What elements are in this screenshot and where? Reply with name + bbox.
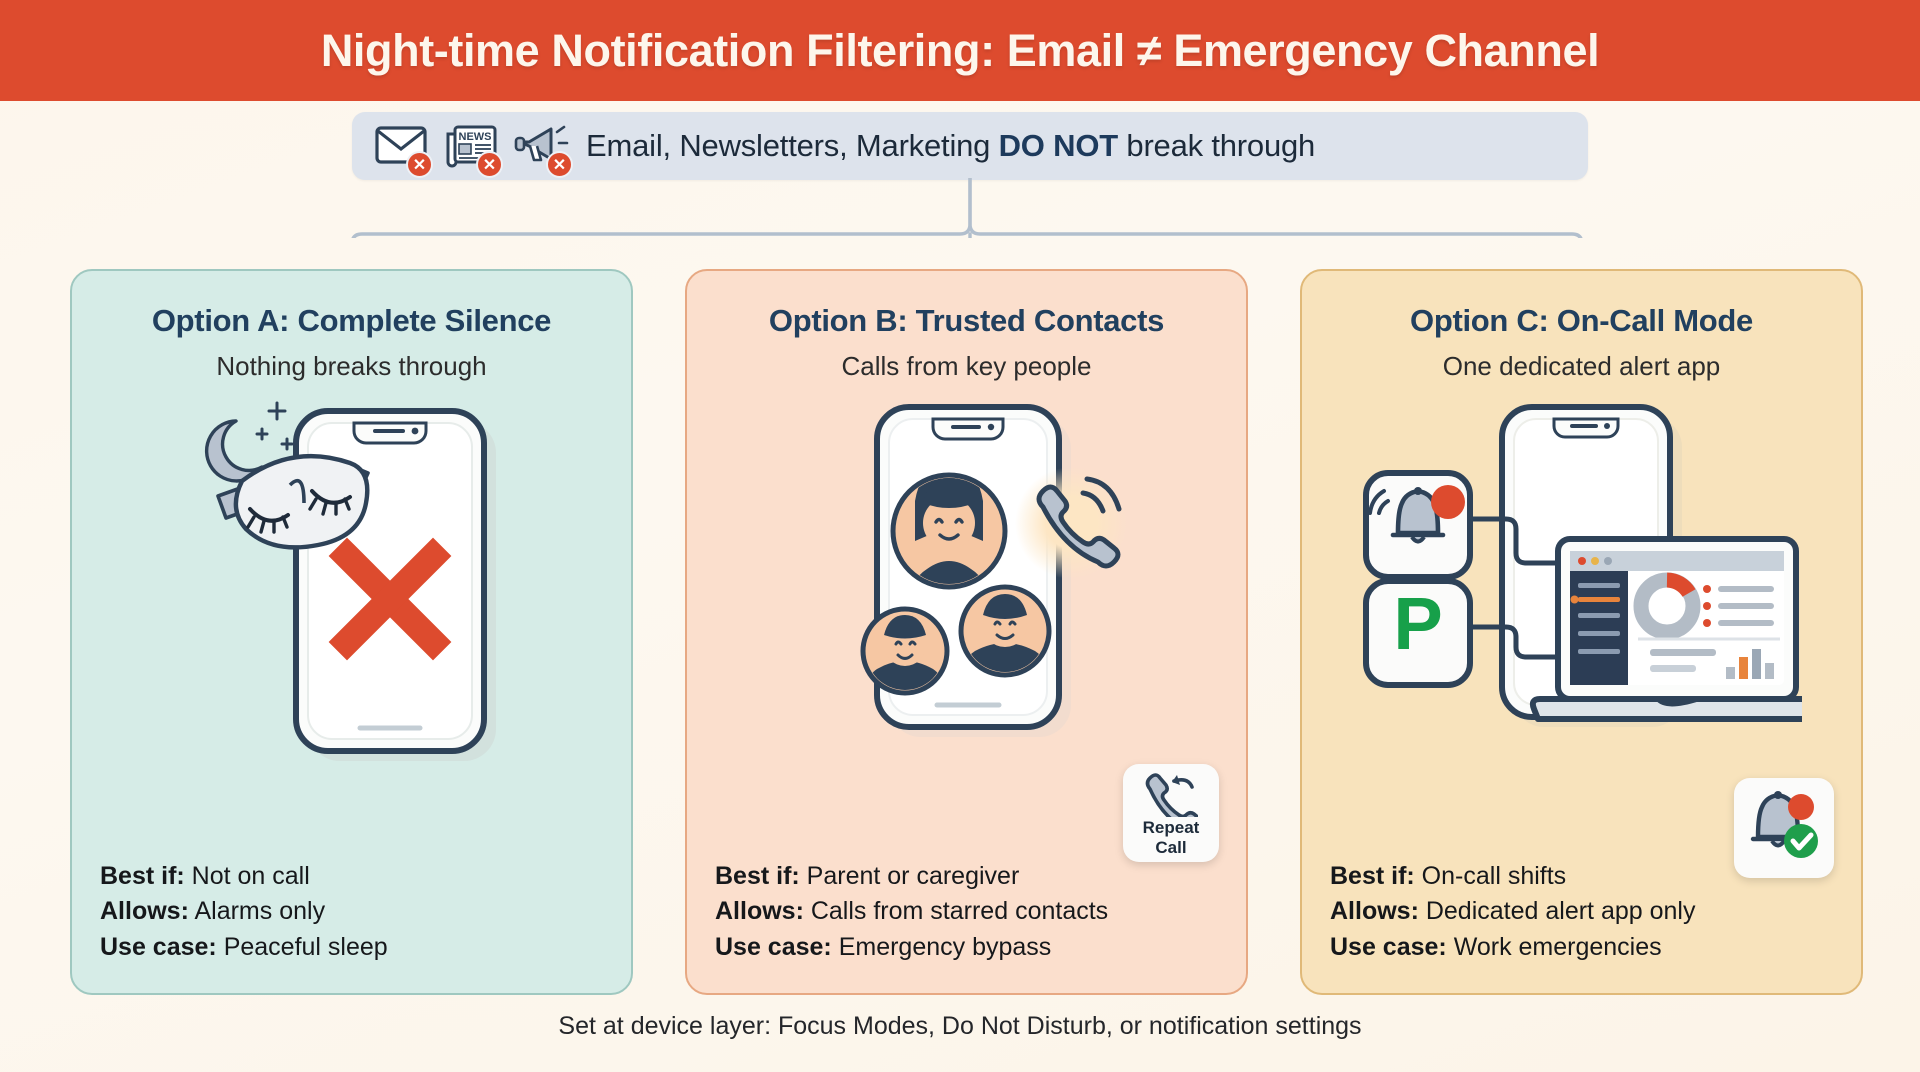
blocked-badge: ✕ [406, 151, 433, 178]
connector-lines [0, 178, 1920, 238]
banner-text-emphasis: DO NOT [999, 128, 1118, 163]
option-card-b[interactable]: Option B: Trusted Contacts Calls from ke… [685, 269, 1248, 995]
blocked-badge: ✕ [476, 151, 503, 178]
fact-row: Allows: Calls from starred contacts [715, 894, 1108, 930]
option-card-a[interactable]: Option A: Complete Silence Nothing break… [70, 269, 633, 995]
fact-row: Use case: Peaceful sleep [100, 930, 388, 966]
svg-text:NEWS: NEWS [459, 131, 492, 143]
fact-row: Allows: Alarms only [100, 894, 388, 930]
bell-alert-approved-icon [1745, 791, 1823, 865]
repeat-call-label-line1: Repeat [1143, 819, 1200, 837]
fact-value: Peaceful sleep [217, 933, 388, 961]
fact-key: Allows: [715, 897, 804, 925]
card-title: Option B: Trusted Contacts [711, 303, 1222, 339]
footer-note: Set at device layer: Focus Modes, Do Not… [0, 1012, 1920, 1041]
fact-value: Alarms only [189, 897, 325, 925]
envelope-blocked-icon: ✕ [374, 120, 430, 172]
repeat-call-label-line2: Call [1155, 839, 1186, 857]
card-title: Option A: Complete Silence [96, 303, 607, 339]
fact-value: Calls from starred contacts [804, 897, 1108, 925]
fact-value: Parent or caregiver [800, 862, 1020, 890]
phone-trusted-contacts-illustration [687, 381, 1246, 781]
banner-text-before: Email, Newsletters, Marketing [586, 128, 999, 163]
card-title: Option C: On-Call Mode [1326, 303, 1837, 339]
repeat-call-icon [1144, 773, 1198, 817]
page-title: Night-time Notification Filtering: Email… [321, 25, 1599, 77]
fact-row: Allows: Dedicated alert app only [1330, 894, 1695, 930]
fact-value: On-call shifts [1415, 862, 1566, 890]
fact-row: Best if: Parent or caregiver [715, 859, 1108, 895]
fact-value: Not on call [185, 862, 310, 890]
fact-value: Emergency bypass [832, 933, 1052, 961]
pager-app-logo-letter: P [1393, 582, 1442, 665]
banner-text-after: break through [1118, 128, 1315, 163]
fact-row: Best if: On-call shifts [1330, 859, 1695, 895]
fact-value: Work emergencies [1447, 933, 1662, 961]
phone-laptop-pager-illustration: P [1302, 381, 1861, 781]
fact-row: Use case: Work emergencies [1330, 930, 1695, 966]
header-bar: Night-time Notification Filtering: Email… [0, 0, 1920, 101]
megaphone-blocked-icon: ✕ [514, 120, 570, 172]
card-subtitle: Calls from key people [711, 351, 1222, 382]
blocked-channels-banner: ✕ NEWS ✕ [352, 112, 1588, 180]
fact-key: Best if: [1330, 862, 1415, 890]
bell-alert-approved-chip [1734, 778, 1834, 878]
card-facts: Best if: Not on call Allows: Alarms only… [100, 859, 388, 966]
newspaper-blocked-icon: NEWS ✕ [444, 120, 500, 172]
card-subtitle: Nothing breaks through [96, 351, 607, 382]
fact-key: Allows: [100, 897, 189, 925]
fact-key: Use case: [1330, 933, 1447, 961]
blocked-badge: ✕ [546, 151, 573, 178]
fact-row: Use case: Emergency bypass [715, 930, 1108, 966]
fact-value: Dedicated alert app only [1419, 897, 1696, 925]
repeat-call-chip: Repeat Call [1123, 764, 1219, 862]
fact-key: Use case: [100, 933, 217, 961]
blocked-channels-text: Email, Newsletters, Marketing DO NOT bre… [586, 128, 1315, 164]
fact-key: Best if: [715, 862, 800, 890]
fact-key: Use case: [715, 933, 832, 961]
card-facts: Best if: Parent or caregiver Allows: Cal… [715, 859, 1108, 966]
card-subtitle: One dedicated alert app [1326, 351, 1837, 382]
fact-row: Best if: Not on call [100, 859, 388, 895]
fact-key: Allows: [1330, 897, 1419, 925]
card-facts: Best if: On-call shifts Allows: Dedicate… [1330, 859, 1695, 966]
fact-key: Best if: [100, 862, 185, 890]
sleep-mask-phone-x-illustration [72, 381, 631, 781]
option-card-c[interactable]: Option C: On-Call Mode One dedicated ale… [1300, 269, 1863, 995]
blocked-channel-icons: ✕ NEWS ✕ [364, 120, 586, 172]
